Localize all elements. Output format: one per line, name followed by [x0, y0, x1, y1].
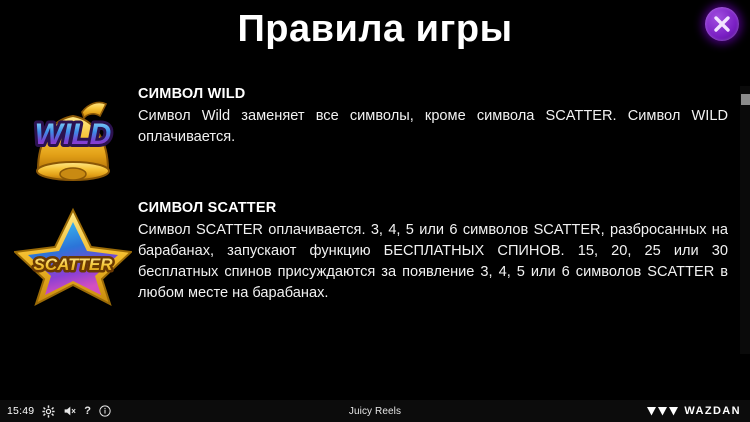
- wild-text-block: СИМВОЛ WILD Символ Wild заменяет все сим…: [138, 86, 728, 148]
- page-title: Правила игры: [0, 2, 750, 56]
- scatter-heading: СИМВОЛ SCATTER: [138, 200, 728, 216]
- rules-section-wild: WILD WILD СИМВОЛ WILD Символ Wild заменя…: [0, 86, 750, 196]
- wild-heading: СИМВОЛ WILD: [138, 86, 728, 102]
- close-button[interactable]: [705, 7, 739, 41]
- svg-text:SCATTER: SCATTER: [33, 255, 113, 274]
- wild-body: Символ Wild заменяет все символы, кроме …: [138, 106, 728, 148]
- wild-bell-symbol: WILD WILD: [14, 86, 132, 194]
- scatter-text-block: СИМВОЛ SCATTER Символ SCATTER оплачивает…: [138, 200, 728, 304]
- rules-section-scatter: SCATTER SCATTER СИМВОЛ SCATTER Символ SC…: [0, 200, 750, 355]
- game-rules-dialog: Правила игры: [0, 0, 750, 400]
- scrollbar-thumb[interactable]: [741, 94, 750, 105]
- scatter-star-symbol: SCATTER SCATTER: [14, 200, 132, 308]
- scatter-body: Символ SCATTER оплачивается. 3, 4, 5 или…: [138, 220, 728, 304]
- taskbar: 15:49 ? Juicy Reels: [0, 400, 750, 422]
- wazdan-chevrons-icon: [647, 406, 679, 417]
- brand-name: WAZDAN: [684, 405, 741, 417]
- brand-logo: WAZDAN: [647, 405, 741, 417]
- scrollbar[interactable]: [740, 86, 750, 354]
- game-name-label: Juicy Reels: [0, 406, 750, 417]
- close-x-icon: [705, 7, 739, 41]
- svg-text:WILD: WILD: [35, 118, 112, 151]
